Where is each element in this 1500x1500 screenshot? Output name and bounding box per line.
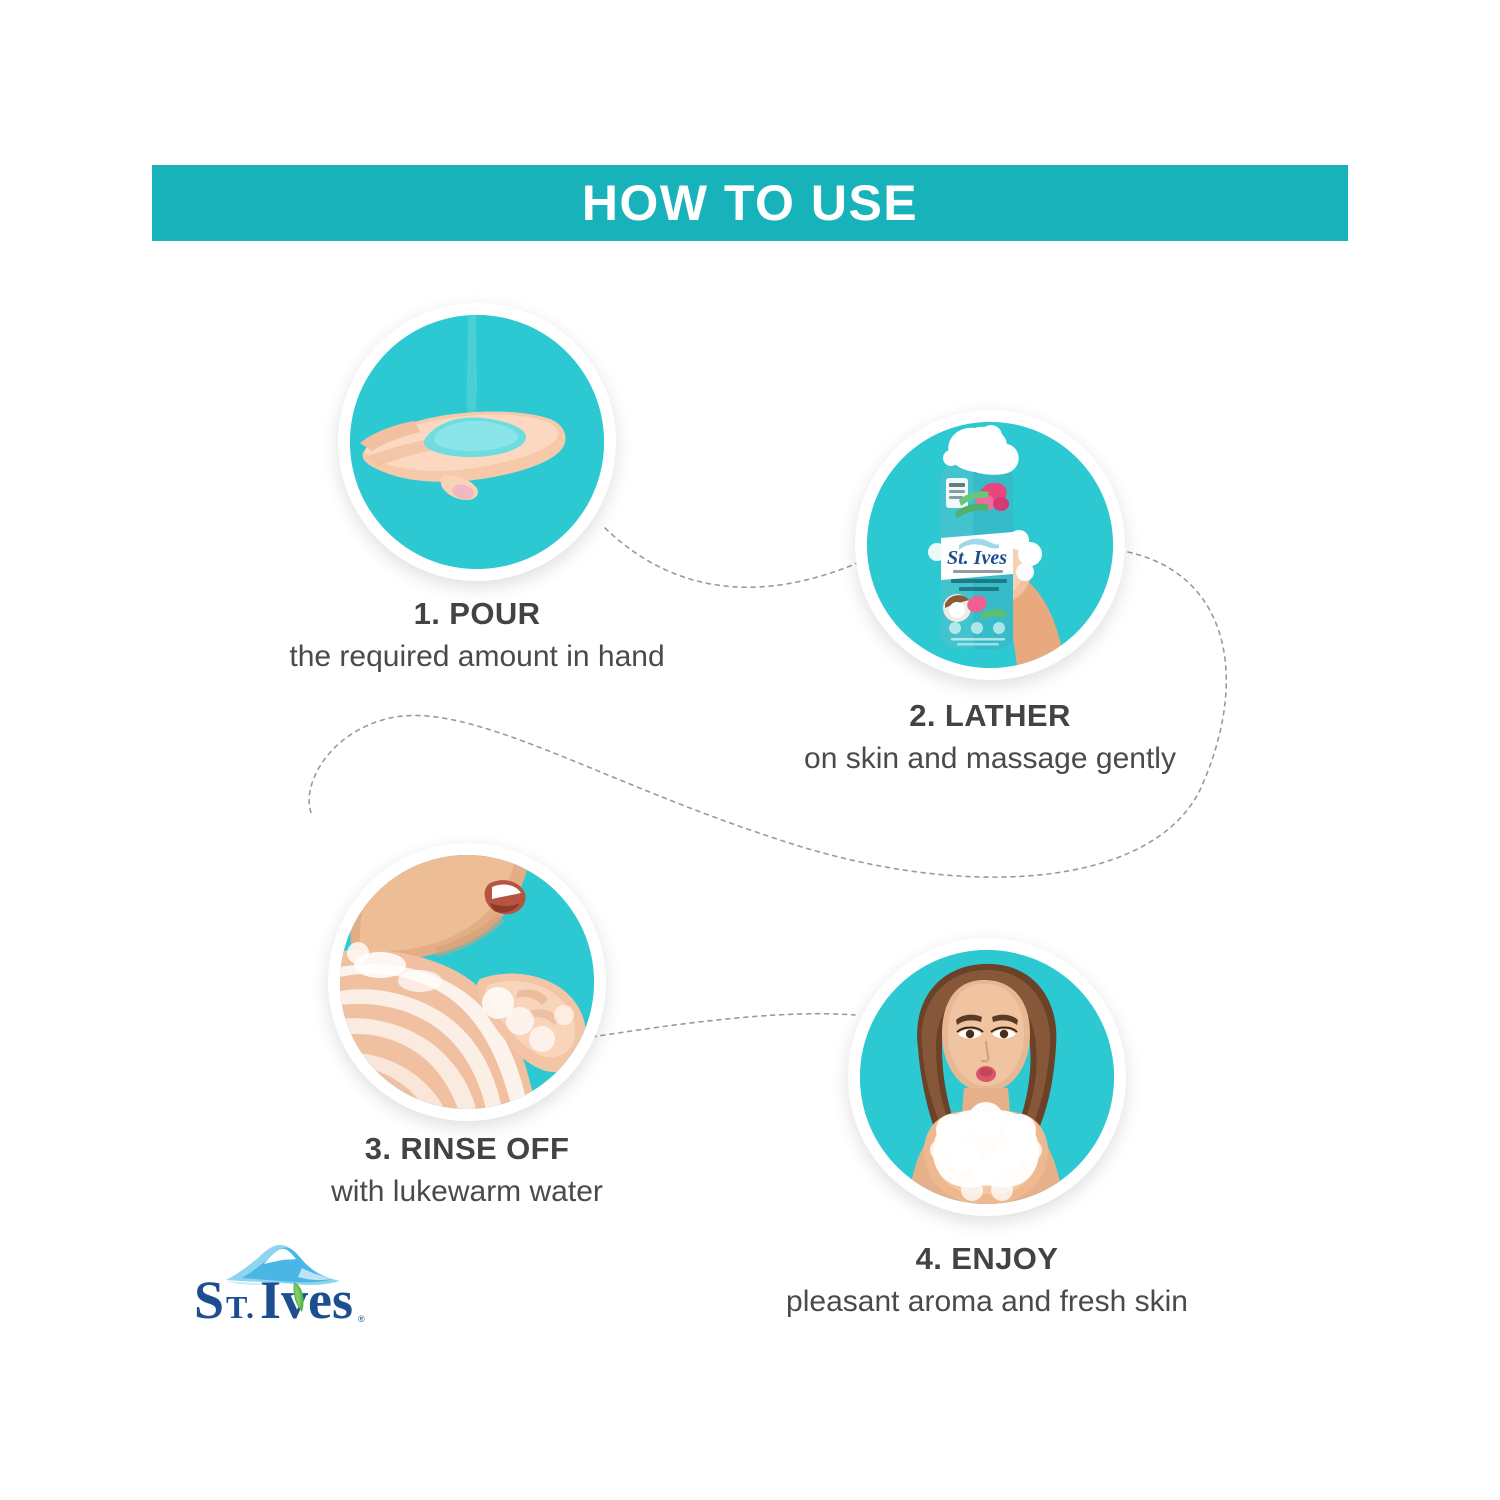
svg-text:T: T <box>226 1289 247 1325</box>
step-title-enjoy: 4. ENJOY <box>687 1240 1287 1279</box>
step-caption-rinse-off: 3. RINSE OFF with lukewarm water <box>167 1130 767 1211</box>
step-image-lather-disc: St. Ives <box>867 422 1113 668</box>
connector-pour-to-lather <box>605 528 860 587</box>
step-image-pour <box>338 303 616 581</box>
step-title-lather: 2. LATHER <box>690 697 1290 736</box>
step-description-rinse-off: with lukewarm water <box>167 1173 767 1211</box>
step-image-lather: St. Ives <box>855 410 1125 680</box>
step-caption-enjoy: 4. ENJOY pleasant aroma and fresh skin <box>687 1240 1287 1321</box>
step-caption-lather: 2. LATHER on skin and massage gently <box>690 697 1290 778</box>
product-bottle: St. Ives <box>941 444 1013 649</box>
step-image-rinse-off-disc <box>340 855 594 1109</box>
logo-wordmark: S T . Ives ® <box>194 1270 365 1330</box>
svg-text:.: . <box>246 1289 254 1325</box>
step-image-enjoy-disc <box>860 950 1114 1204</box>
header-banner: HOW TO USE <box>152 165 1348 241</box>
step-image-rinse-off <box>328 843 606 1121</box>
step-description-lather: on skin and massage gently <box>690 740 1290 778</box>
registered-mark: ® <box>358 1314 365 1324</box>
step-description-pour: the required amount in hand <box>177 638 777 676</box>
connector-rinse-to-enjoy <box>592 1014 855 1037</box>
svg-text:Ives: Ives <box>260 1270 353 1330</box>
bottle-brand-text: St. Ives <box>947 547 1007 569</box>
st-ives-logo: S T . Ives ® <box>190 1236 375 1331</box>
step-title-pour: 1. POUR <box>177 595 777 634</box>
how-to-use-infographic: HOW TO USE <box>0 0 1500 1500</box>
page-title: HOW TO USE <box>582 178 918 228</box>
step-title-rinse-off: 3. RINSE OFF <box>167 1130 767 1169</box>
step-description-enjoy: pleasant aroma and fresh skin <box>687 1283 1287 1321</box>
step-image-pour-disc <box>350 315 604 569</box>
gel-stream <box>467 315 477 423</box>
step-image-enjoy <box>848 938 1126 1216</box>
face <box>942 980 1030 1092</box>
step-caption-pour: 1. POUR the required amount in hand <box>177 595 777 676</box>
svg-text:S: S <box>194 1270 224 1330</box>
